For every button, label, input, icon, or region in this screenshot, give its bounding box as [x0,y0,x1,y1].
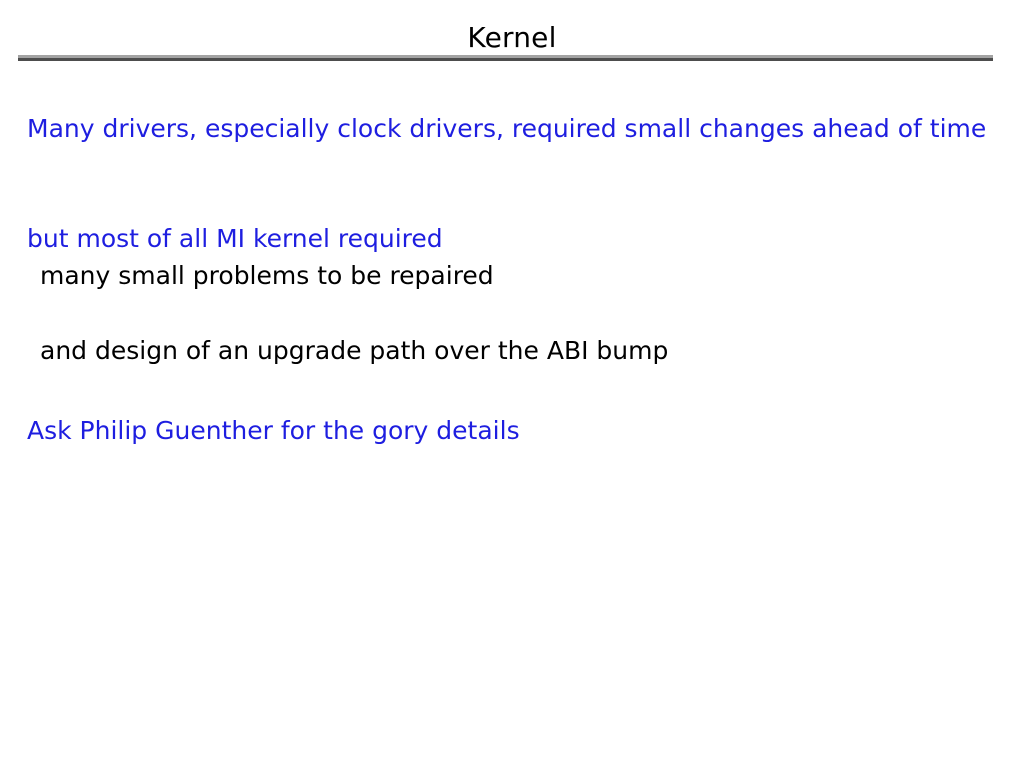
bullet-small-problems: many small problems to be repaired [40,259,1000,293]
slide-body: Many drivers, especially clock drivers, … [0,0,1024,768]
bullet-ask-philip-guenther: Ask Philip Guenther for the gory details [27,414,997,448]
bullet-drivers: Many drivers, especially clock drivers, … [27,112,997,146]
bullet-mi-kernel: but most of all MI kernel required [27,222,997,256]
bullet-upgrade-path: and design of an upgrade path over the A… [40,334,1000,368]
